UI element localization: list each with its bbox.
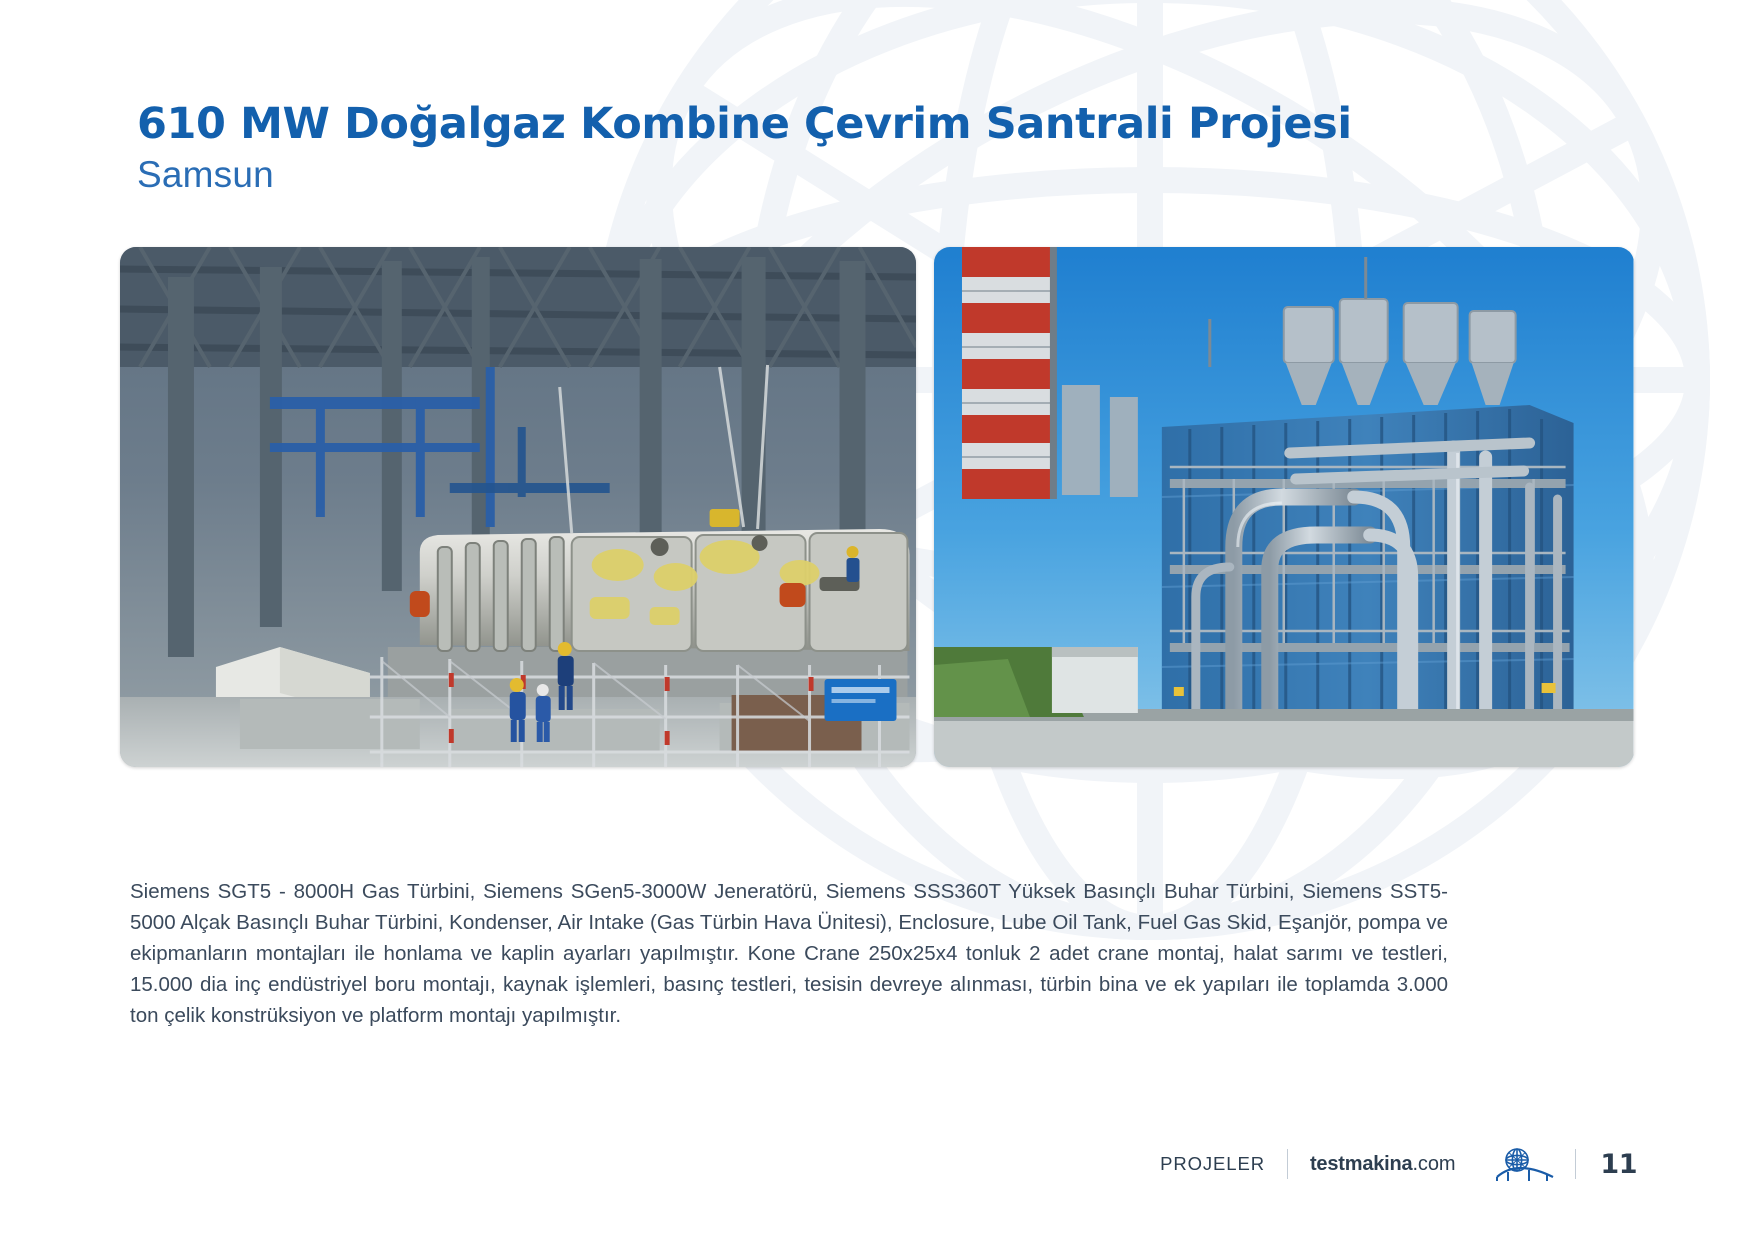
project-description: Siemens SGT5 - 8000H Gas Türbini, Siemen… <box>130 876 1448 1031</box>
footer-brand[interactable]: testmakina.com <box>1288 1153 1477 1176</box>
title-block: 610 MW Doğalgaz Kombine Çevrim Santrali … <box>137 100 1637 196</box>
project-page: 610 MW Doğalgaz Kombine Çevrim Santrali … <box>0 0 1754 1241</box>
globe-bridge-logo <box>1477 1147 1575 1181</box>
gas-turbine-assembly-photo <box>120 247 916 767</box>
footer-section-label: PROJELER <box>1138 1153 1287 1175</box>
page-subtitle-location: Samsun <box>137 154 1637 197</box>
photo-gallery <box>120 247 1634 767</box>
power-plant-exterior-photo <box>934 247 1634 767</box>
brand-name: testmakina <box>1310 1153 1413 1176</box>
page-footer: PROJELER testmakina.com <box>1138 1143 1637 1185</box>
page-number: 11 <box>1576 1149 1637 1180</box>
brand-tld: .com <box>1412 1153 1455 1176</box>
page-title: 610 MW Doğalgaz Kombine Çevrim Santrali … <box>137 100 1637 150</box>
